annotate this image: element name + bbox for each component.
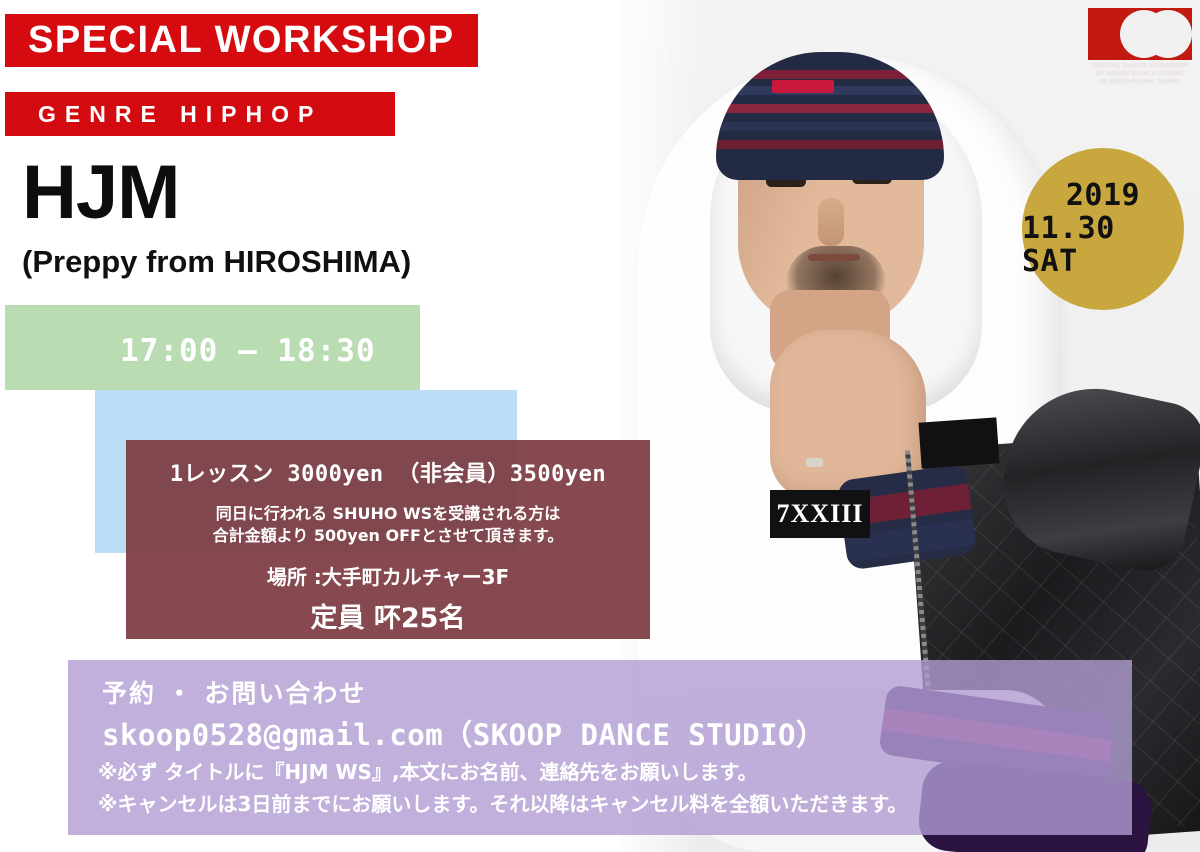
genre-banner: GENRE HIPHOP <box>5 92 395 136</box>
logo-caption-line3: IN MATSUYAMA, EHIME <box>1088 78 1192 86</box>
date-day: 11.30 SAT <box>1022 212 1184 278</box>
capacity-line: 定員 吥25名 <box>126 596 650 635</box>
price-line: 1レッスン 3000yen （非会員）3500yen <box>126 456 650 488</box>
date-badge: 2019 11.30 SAT <box>1022 148 1184 310</box>
logo-caption-line1: SPECIAL DANCE WORKSHOP <box>1088 62 1192 70</box>
contact-box: 予約 ・ お問い合わせ skoop0528@gmail.com（SKOOP DA… <box>68 660 1132 835</box>
logo-caption: SPECIAL DANCE WORKSHOP BY SKOOP DANCE ST… <box>1088 62 1192 86</box>
logo-circle-right <box>1144 10 1192 58</box>
contact-email[interactable]: skoop0528@gmail.com（SKOOP DANCE STUDIO） <box>102 712 826 754</box>
logo-mark-icon <box>1088 8 1192 60</box>
contact-note-2: ※キャンセルは3日前までにお願いします。それ以降はキャンセル料を全額いただきます… <box>98 788 907 817</box>
discount-note-line1: 同日に行われる SHUHO WSを受講される方は <box>126 503 650 525</box>
artist-name: HJM <box>22 155 179 231</box>
contact-heading: 予約 ・ お問い合わせ <box>102 674 366 710</box>
venue-line: 場所 :大手町カルチャー3F <box>126 561 650 590</box>
time-range: 17:00 — 18:30 <box>120 333 376 369</box>
logo-caption-line2: BY SKOOP DANCE STUDIO <box>1088 70 1192 78</box>
genre-banner-text: GENRE HIPHOP <box>5 101 322 128</box>
date-year: 2019 <box>1066 180 1140 212</box>
discount-note-line2: 合計金額より 500yen OFFとさせて頂きます。 <box>126 525 650 547</box>
discount-note: 同日に行われる SHUHO WSを受講される方は 合計金額より 500yen O… <box>126 503 650 546</box>
title-banner-text: SPECIAL WORKSHOP <box>5 19 455 62</box>
poster-canvas: 7XXIII SPECIAL DANCE WORKSHOP BY SKOOP D… <box>0 0 1200 852</box>
studio-logo[interactable]: SPECIAL DANCE WORKSHOP BY SKOOP DANCE ST… <box>1088 8 1192 90</box>
artist-origin: (Preppy from HIROSHIMA) <box>22 245 411 279</box>
title-banner: SPECIAL WORKSHOP <box>5 14 478 67</box>
details-box: 1レッスン 3000yen （非会員）3500yen 同日に行われる SHUHO… <box>126 440 650 639</box>
contact-note-1: ※必ず タイトルに『HJM WS』,本文にお名前、連絡先をお願いします。 <box>98 756 758 785</box>
